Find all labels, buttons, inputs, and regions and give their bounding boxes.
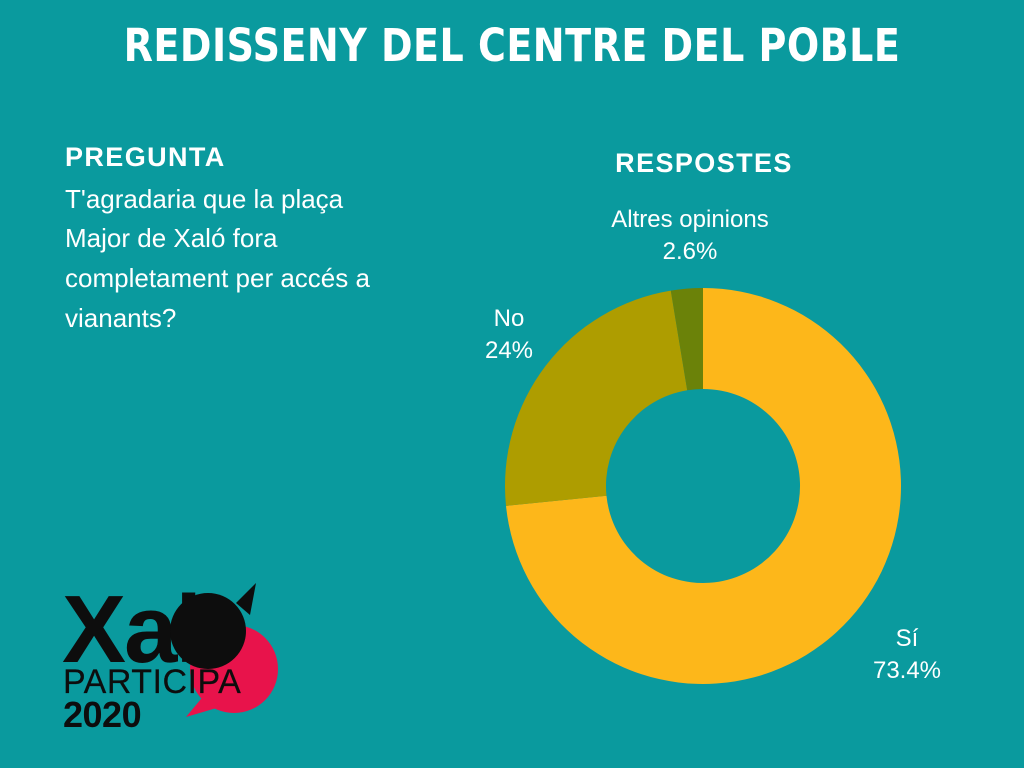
- question-heading: PREGUNTA: [65, 143, 395, 173]
- slice-label-altres-opinions: Altres opinions 2.6%: [585, 204, 795, 268]
- slice-label-si: Sí 73.4%: [857, 623, 957, 687]
- slice-label-altres-opinions-name: Altres opinions: [611, 206, 768, 233]
- donut-chart: [505, 288, 901, 684]
- slice-label-altres-opinions-value: 2.6%: [585, 236, 795, 268]
- donut-chart-svg: [505, 288, 901, 684]
- logo-year: 2020: [63, 694, 141, 730]
- slice-label-si-value: 73.4%: [857, 655, 957, 687]
- question-text: T'agradaria que la plaça Major de Xaló f…: [65, 180, 395, 339]
- slice-label-no-value: 24%: [456, 335, 562, 367]
- slice-label-no-name: No: [494, 305, 525, 332]
- xalo-participa-logo-svg: Xal PARTICIPA 2020: [60, 565, 305, 730]
- slice-label-si-name: Sí: [896, 625, 919, 652]
- page-title: REDISSENY DEL CENTRE DEL POBLE: [31, 22, 994, 70]
- answers-heading: RESPOSTES: [505, 148, 903, 179]
- xalo-participa-logo: Xal PARTICIPA 2020: [60, 565, 305, 730]
- question-block: PREGUNTA T'agradaria que la plaça Major …: [65, 143, 395, 339]
- slice-label-no: No 24%: [456, 303, 562, 367]
